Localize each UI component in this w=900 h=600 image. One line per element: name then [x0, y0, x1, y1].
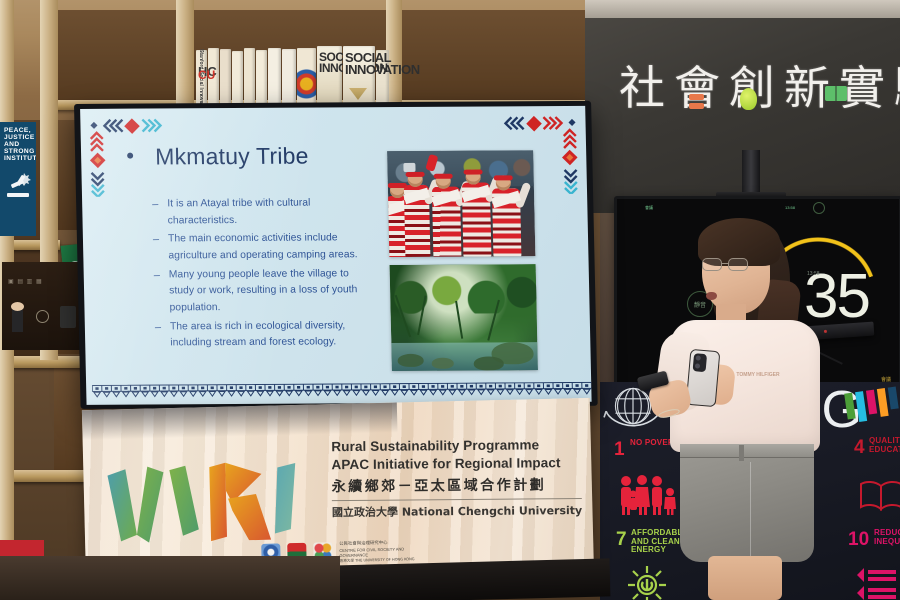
- orange-book-icon: [689, 94, 704, 100]
- atayal-dancers-photo: [387, 150, 535, 257]
- atayal-pattern-bottom-strip: [92, 382, 591, 398]
- slide-bullet-item: – Many young people leave the village to…: [154, 266, 377, 317]
- magazine-spine: Stanford Social Innovation Review: [256, 50, 267, 106]
- sdg-goal-title: REDUCED INEQUALITIES: [874, 529, 900, 546]
- slide-title-row: Mkmatuy Tribe: [127, 143, 309, 171]
- sdg-goal-number: 7: [616, 529, 627, 550]
- smartphone[interactable]: [686, 349, 721, 407]
- green-solar-panel-icon: [825, 86, 847, 101]
- slide-bullet-list: – It is an Atayal tribe with cultural ch…: [152, 195, 377, 354]
- sdg-poster-title: PEACE, JUSTICE AND STRONG INSTITUTIONS: [4, 128, 32, 163]
- equals-arrows-icon: [856, 562, 900, 600]
- sdg-goal-4: 4 QUALITY EDUCATION: [854, 438, 865, 458]
- table-edge: [330, 558, 611, 600]
- presenter-leg: [708, 556, 782, 600]
- banner-divider: [332, 498, 582, 501]
- bullet-dot-icon: [127, 153, 133, 159]
- slide-bullet-text: It is an Atayal tribe with cultural char…: [167, 195, 375, 230]
- wall-chinese-label: 社會創新實驗: [619, 52, 900, 118]
- gavel-icon: [4, 169, 34, 203]
- sponsor-name-en: CENTRE FOR CIVIL SOCIETY AND GOVERNANCE: [339, 546, 404, 558]
- forest-stream-photo: [390, 264, 538, 371]
- sdg-goal-number: 4: [854, 437, 865, 458]
- dash-marker: –: [154, 267, 161, 317]
- sdg-goal-10: 10 REDUCED INEQUALITIES: [848, 530, 869, 550]
- sponsor-text-block: 公民社會與治理研究中心 CENTRE FOR CIVIL SOCIETY AND…: [339, 539, 430, 563]
- sponsor-subline: 香港大學 THE UNIVERSITY OF HONG KONG: [340, 557, 415, 563]
- slide-bullet-item: – The area is rich in ecological diversi…: [155, 318, 378, 353]
- sdg-goal-7: 7 AFFORDABLE AND CLEAN ENERGY: [616, 530, 627, 550]
- magazine-spine: Stanford Social Innovation Review: [220, 49, 231, 106]
- dash-marker: –: [152, 196, 159, 229]
- nvr-programme-logo: [105, 453, 307, 554]
- presentation-photo-scene: Stanford Social Innovation Review Stanfo…: [0, 0, 900, 600]
- magazine-cover-art: [297, 48, 316, 106]
- green-lightbulb-icon: [740, 88, 757, 110]
- presenter-shorts: [680, 444, 814, 562]
- banner-line-2: APAC Initiative for Regional Impact: [331, 454, 581, 474]
- banner-line-chinese: 永續鄉郊－亞太區域合作計劃: [332, 474, 582, 496]
- sdg-poster-16-peace-justice: PEACE, JUSTICE AND STRONG INSTITUTIONS: [0, 122, 36, 236]
- sdg-color-tabs: [844, 387, 900, 424]
- eyeglasses-icon: [702, 258, 752, 271]
- slide-canvas: Mkmatuy Tribe – It is an Atayal tribe wi…: [80, 106, 592, 405]
- sdg-goal-number: 10: [848, 529, 869, 550]
- slide-bullet-text: Many young people leave the village to s…: [169, 266, 377, 317]
- slide-bullet-item: – It is an Atayal tribe with cultural ch…: [152, 195, 375, 230]
- magazine-cover-hc: HC: [268, 48, 281, 106]
- slide-bullet-text: The area is rich in ecological diversity…: [170, 318, 378, 353]
- presenter: TOMMY HILFIGER: [650, 196, 840, 600]
- open-book-icon: [858, 478, 900, 512]
- dash-marker: –: [155, 319, 162, 352]
- floor-area: [0, 556, 340, 600]
- tshirt-brand-print: TOMMY HILFIGER: [736, 372, 780, 398]
- dash-marker: –: [153, 232, 160, 265]
- book-title: SOCIAL INNOVATION: [345, 52, 420, 76]
- banner-university: 國立政治大學 National Chengchi University: [332, 502, 582, 520]
- presentation-screen[interactable]: Mkmatuy Tribe – It is an Atayal tribe wi…: [74, 101, 598, 409]
- presenter-mouth: [706, 292, 717, 300]
- slide-bullet-item: – The main economic activities include a…: [153, 230, 376, 265]
- orange-book-icon: [689, 103, 704, 109]
- banner-university-en: National Chengchi University: [402, 504, 583, 519]
- book-social-innovation: SOCIAL INNOVATION: [343, 46, 375, 106]
- slide-bullet-text: The main economic activities include agr…: [168, 230, 376, 265]
- banner-university-cn: 國立政治大學: [332, 505, 398, 519]
- sdg-goal-number: 1: [614, 439, 625, 460]
- magazine-spine: Stanford Social Innovation Review: [244, 48, 255, 106]
- banner-text-block: Rural Sustainability Programme APAC Init…: [331, 436, 582, 520]
- magazine-row: Stanford Social Innovation Review Stanfo…: [196, 46, 389, 106]
- sdg-goal-1: 1 NO POVERTY: [614, 440, 625, 460]
- slide-title: Mkmatuy Tribe: [155, 143, 309, 171]
- magazine-spine: Stanford Social Innovation Review: [232, 51, 243, 106]
- banner-line-1: Rural Sustainability Programme: [331, 436, 581, 456]
- sdg-goal-title: QUALITY EDUCATION: [869, 437, 900, 454]
- book-social-innovation: SOCIAL INNOVATION: [317, 46, 342, 106]
- magazine-cover-cu: CU: [282, 49, 296, 106]
